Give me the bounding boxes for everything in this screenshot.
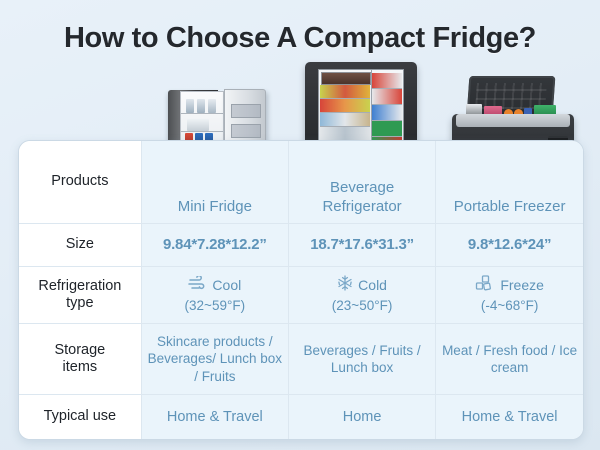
refrigeration-range-beverage-refrigerator: (23~50°F) [293, 297, 431, 314]
row-label-storage-line2: items [23, 359, 137, 376]
product-name-mini-fridge: Mini Fridge [141, 141, 288, 224]
refrigeration-mini-fridge: Cool (32~59°F) [141, 267, 288, 324]
product-name-portable-freezer: Portable Freezer [436, 141, 583, 224]
infographic-page: How to Choose A Compact Fridge? [0, 0, 600, 450]
row-label-typical-use: Typical use [19, 395, 141, 440]
table-row-size: Size 9.84*7.28*12.2” 18.7*17.6*31.3” 9.8… [19, 224, 583, 267]
refrigeration-beverage-refrigerator: Cold (23~50°F) [288, 267, 435, 324]
refrigeration-portable-freezer: Freeze (-4~68°F) [436, 267, 583, 324]
row-label-products: Products [19, 141, 141, 224]
typical-use-beverage-refrigerator: Home [288, 395, 435, 440]
row-label-storage-line1: Storage [23, 342, 137, 359]
row-label-refrigeration-line1: Refrigeration [23, 278, 137, 295]
size-mini-fridge: 9.84*7.28*12.2” [141, 224, 288, 267]
comparison-table: Products Mini Fridge Beverage Refrigerat… [19, 141, 583, 439]
row-label-refrigeration-line2: type [23, 295, 137, 312]
refrigeration-range-mini-fridge: (32~59°F) [146, 297, 284, 314]
row-label-size: Size [19, 224, 141, 267]
snowflake-icon [337, 275, 353, 296]
refrigeration-mode-mini-fridge: Cool [212, 277, 241, 295]
comparison-table-card: Products Mini Fridge Beverage Refrigerat… [18, 140, 584, 440]
wind-icon [188, 276, 207, 296]
refrigeration-mode-beverage-refrigerator: Cold [358, 277, 387, 295]
refrigeration-mode-portable-freezer: Freeze [500, 277, 544, 295]
table-row-refrigeration-type: Refrigeration type [19, 267, 583, 324]
table-row-storage-items: Storage items Skincare products / Bevera… [19, 324, 583, 395]
storage-items-portable-freezer: Meat / Fresh food / Ice cream [436, 324, 583, 395]
table-row-typical-use: Typical use Home & Travel Home Home & Tr… [19, 395, 583, 440]
storage-items-mini-fridge: Skincare products / Beverages/ Lunch box… [141, 324, 288, 395]
row-label-storage-items: Storage items [19, 324, 141, 395]
size-portable-freezer: 9.8*12.6*24” [436, 224, 583, 267]
typical-use-mini-fridge: Home & Travel [141, 395, 288, 440]
ice-cubes-icon [475, 275, 495, 296]
product-name-beverage-refrigerator: Beverage Refrigerator [288, 141, 435, 224]
table-row-products: Products Mini Fridge Beverage Refrigerat… [19, 141, 583, 224]
page-title: How to Choose A Compact Fridge? [0, 22, 600, 55]
typical-use-portable-freezer: Home & Travel [436, 395, 583, 440]
storage-items-beverage-refrigerator: Beverages / Fruits / Lunch box [288, 324, 435, 395]
size-beverage-refrigerator: 18.7*17.6*31.3” [288, 224, 435, 267]
row-label-refrigeration-type: Refrigeration type [19, 267, 141, 324]
refrigeration-range-portable-freezer: (-4~68°F) [440, 297, 579, 314]
